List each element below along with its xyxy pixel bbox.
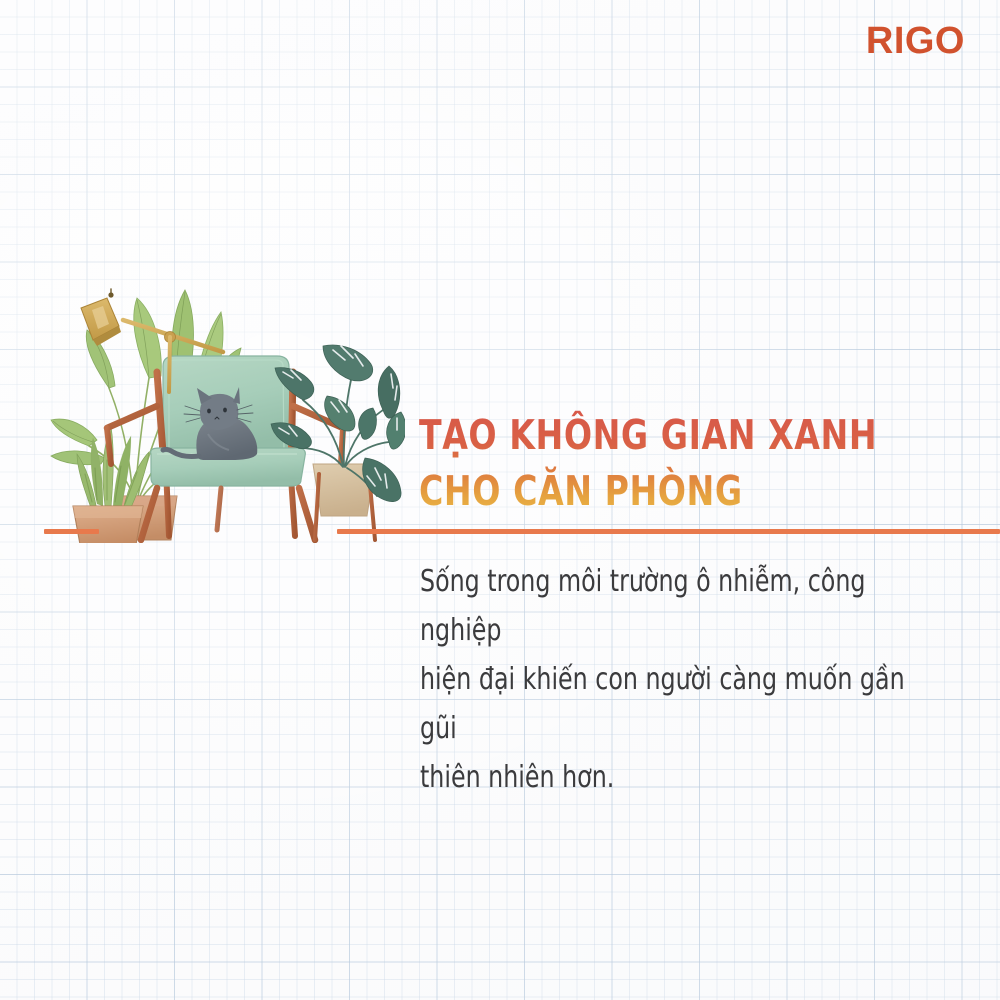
hero-illustration bbox=[45, 268, 405, 543]
rigo-logo[interactable]: RIGO bbox=[866, 22, 965, 60]
poster-canvas: RIGO bbox=[0, 0, 1000, 1000]
headline-line-1: TẠO KHÔNG GIAN XANH bbox=[419, 408, 923, 464]
body-paragraph: Sống trong môi trường ô nhiễm, công nghi… bbox=[420, 558, 935, 802]
divider-line-right bbox=[337, 529, 1000, 534]
divider-line-left bbox=[44, 529, 99, 534]
headline-line-2: CHO CĂN PHÒNG bbox=[419, 464, 923, 520]
headline: TẠO KHÔNG GIAN XANH CHO CĂN PHÒNG bbox=[419, 408, 923, 520]
